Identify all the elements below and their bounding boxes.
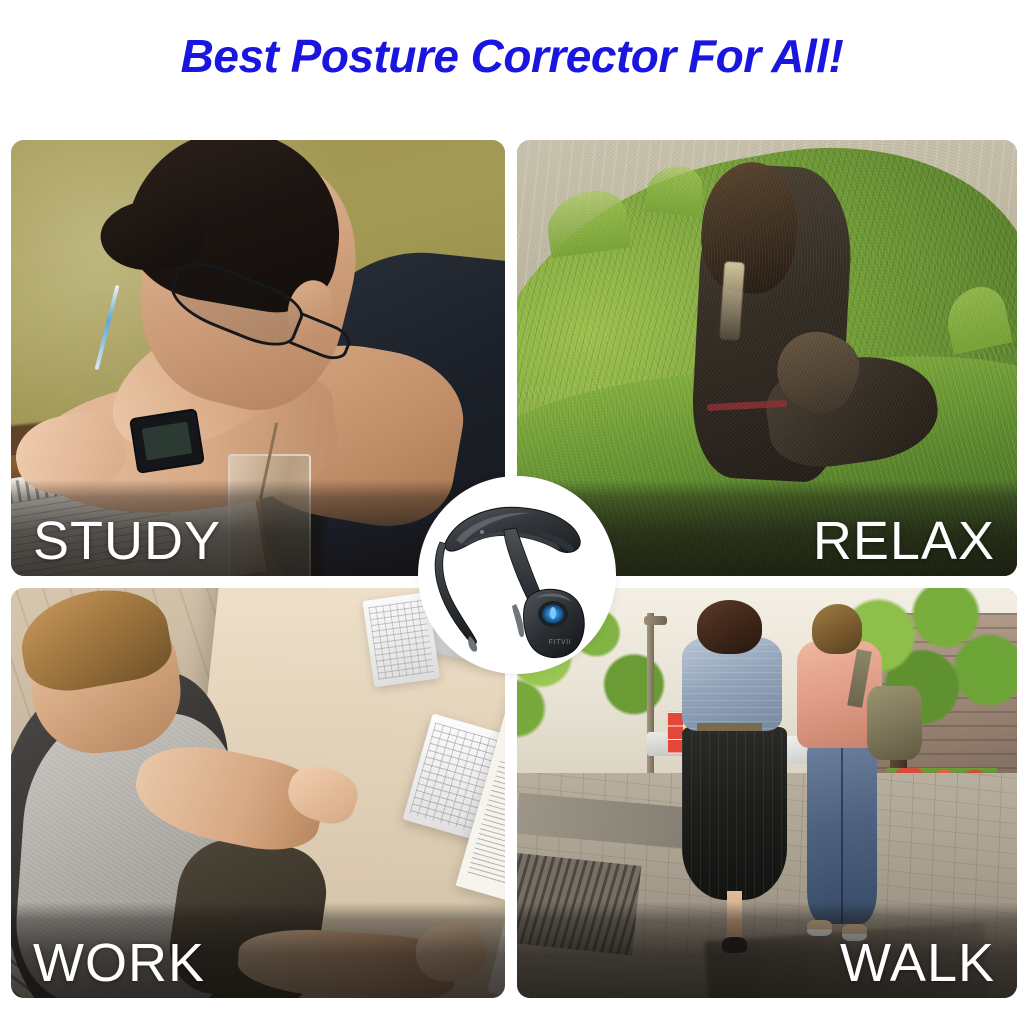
walk-person2-jeans [807,744,877,924]
work-loose-paper [487,894,505,998]
caption-relax: RELAX [813,513,995,570]
walk-drain-grate [517,852,641,955]
posture-corrector-device: FITVII [420,478,614,672]
walk-person2-shoe [807,920,832,936]
svg-text:FITVII: FITVII [549,639,572,646]
product-badge[interactable]: FITVII [420,478,614,672]
panel-relax[interactable]: RELAX [517,140,1017,576]
walk-person1-belt [697,723,762,731]
walk-person1-shoe [722,937,747,953]
walk-person2-hair [812,604,862,653]
caption-study: STUDY [33,513,221,570]
study-drinking-glass [228,454,311,576]
walk-person1-leg [727,891,742,940]
walk-person1-hair [697,600,762,653]
study-smartwatch [131,410,203,472]
panel-walk[interactable]: ILO [517,588,1017,998]
walk-street-lamp [647,613,654,785]
headline-banner: Best Posture Corrector For All! [0,0,1024,130]
caption-work: WORK [33,935,205,992]
caption-walk: WALK [840,935,995,992]
walk-person2-backpack [867,686,922,760]
page-title: Best Posture Corrector For All! [181,33,844,79]
walk-person1-skirt [682,727,787,899]
panel-work[interactable]: WORK [11,588,505,998]
panel-study[interactable]: STUDY [11,140,505,576]
